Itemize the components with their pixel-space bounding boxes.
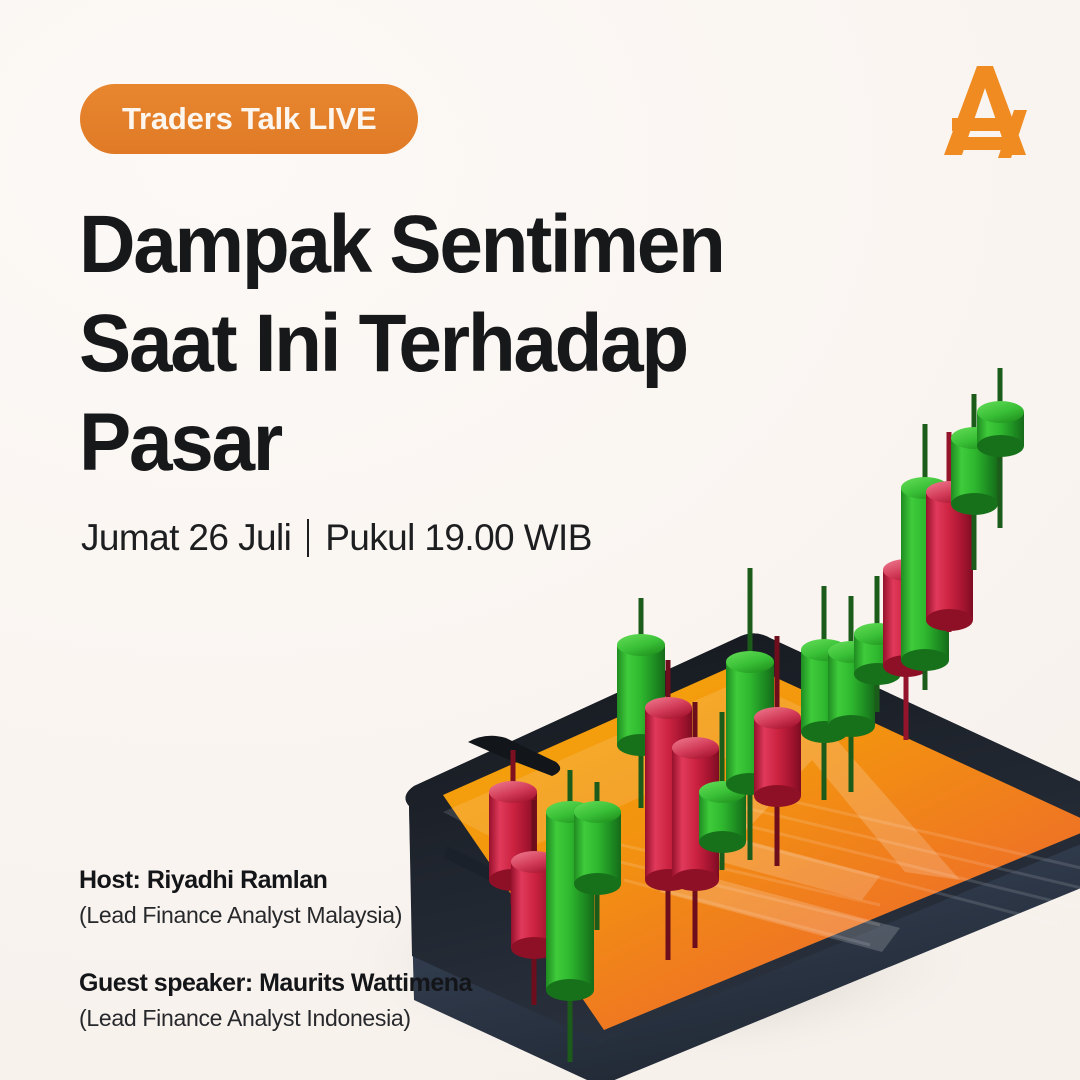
live-badge-label: Traders Talk LIVE: [122, 101, 376, 137]
credit-host-role: (Lead Finance Analyst Malaysia): [79, 902, 472, 929]
credit-guest-name: Guest speaker: Maurits Wattimena: [79, 969, 472, 998]
schedule-line: Jumat 26 Juli Pukul 19.00 WIB: [81, 517, 592, 559]
schedule-time: Pukul 19.00 WIB: [325, 517, 592, 559]
headline-line-1: Dampak Sentimen: [79, 195, 805, 294]
schedule-date: Jumat 26 Juli: [81, 517, 291, 559]
credit-guest-role: (Lead Finance Analyst Indonesia): [79, 1005, 472, 1032]
credit-host-name: Host: Riyadhi Ramlan: [79, 866, 472, 895]
promo-poster: Traders Talk LIVE Dampak Sentimen Saat I…: [0, 0, 1080, 1080]
page-title: Dampak Sentimen Saat Ini Terhadap Pasar: [79, 195, 805, 492]
headline-line-2: Saat Ini Terhadap: [79, 294, 805, 393]
credit-guest: Guest speaker: Maurits Wattimena (Lead F…: [79, 969, 472, 1032]
credits-block: Host: Riyadhi Ramlan (Lead Finance Analy…: [79, 866, 472, 1032]
smartphone-3d-icon: [405, 633, 1080, 1080]
live-badge[interactable]: Traders Talk LIVE: [80, 84, 418, 154]
headline-line-3: Pasar: [79, 393, 805, 492]
schedule-separator: [307, 519, 309, 557]
credit-host: Host: Riyadhi Ramlan (Lead Finance Analy…: [79, 866, 472, 929]
atom-a-logo-icon: [930, 58, 1040, 163]
